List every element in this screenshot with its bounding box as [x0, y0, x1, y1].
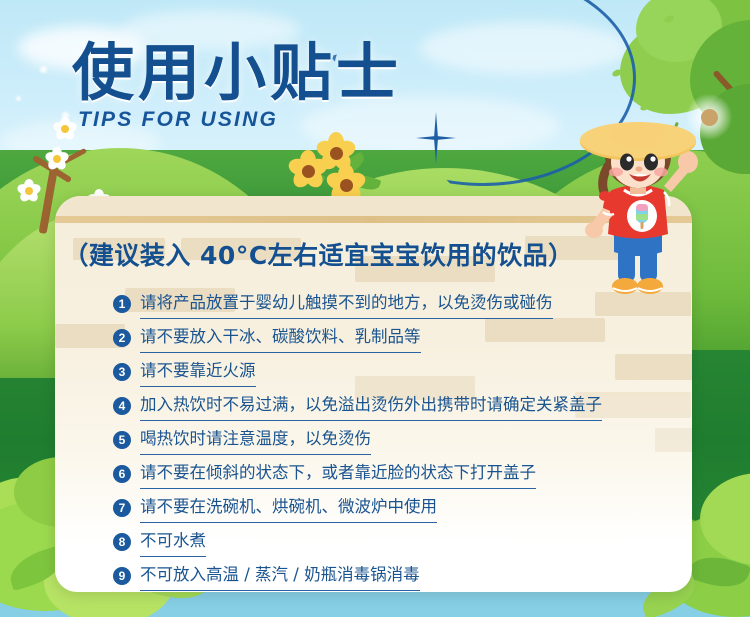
tip-row: 6请不要在倾斜的状态下，或者靠近脸的状态下打开盖子 [113, 457, 673, 491]
tip-number-badge: 5 [113, 431, 131, 449]
daisy-icon [44, 146, 70, 172]
card-heading: （建议装入 40°C左右适宜宝宝饮用的饮品） [0, 236, 637, 272]
tip-text: 加入热饮时不易过满，以免溢出烫伤外出携带时请确定关紧盖子 [140, 391, 602, 421]
tip-row: 7请不要在洗碗机、烘碗机、微波炉中使用 [113, 491, 673, 525]
tip-text: 不可水煮 [140, 527, 206, 557]
tip-number-badge: 9 [113, 567, 131, 585]
tip-text: 不可放入高温 / 蒸汽 / 奶瓶消毒锅消毒 [140, 561, 420, 591]
tips-poster: 使用小贴士 TIPS FOR USING （建议装入 40°C左右适宜宝宝饮用的… [0, 0, 750, 617]
daisy-icon [52, 116, 78, 142]
tip-number-badge: 7 [113, 499, 131, 517]
tip-row: 4加入热饮时不易过满，以免溢出烫伤外出携带时请确定关紧盖子 [113, 389, 673, 423]
daisy-icon [16, 178, 42, 204]
sparkle-dot-icon [40, 66, 47, 73]
tip-row: 9不可放入高温 / 蒸汽 / 奶瓶消毒锅消毒 [113, 559, 673, 593]
tip-row: 3请不要靠近火源 [113, 355, 673, 389]
tip-number-badge: 4 [113, 397, 131, 415]
page-title: 使用小贴士 [72, 22, 402, 112]
tip-text: 请将产品放置于婴幼儿触摸不到的地方，以免烫伤或碰伤 [140, 289, 553, 319]
tip-row: 5喝热饮时请注意温度，以免烫伤 [113, 423, 673, 457]
tip-text: 请不要靠近火源 [140, 357, 256, 387]
tip-row: 8不可水煮 [113, 525, 673, 559]
sparkle-star-icon [416, 112, 456, 164]
tip-text: 请不要在倾斜的状态下，或者靠近脸的状态下打开盖子 [140, 459, 536, 489]
tip-number-badge: 2 [113, 329, 131, 347]
tip-number-badge: 8 [113, 533, 131, 551]
tip-number-badge: 3 [113, 363, 131, 381]
tip-row: 2请不要放入干冰、碳酸饮料、乳制品等 [113, 321, 673, 355]
tip-number-badge: 6 [113, 465, 131, 483]
tip-text: 请不要在洗碗机、烘碗机、微波炉中使用 [140, 493, 437, 523]
page-subtitle: TIPS FOR USING [78, 108, 278, 132]
tips-list: 1请将产品放置于婴幼儿触摸不到的地方，以免烫伤或碰伤2请不要放入干冰、碳酸饮料、… [113, 287, 673, 593]
tip-text: 喝热饮时请注意温度，以免烫伤 [140, 425, 371, 455]
tip-text: 请不要放入干冰、碳酸饮料、乳制品等 [140, 323, 421, 353]
yellow-flower-icon [288, 150, 328, 190]
girl-illustration [572, 112, 704, 298]
tip-number-badge: 1 [113, 295, 131, 313]
sparkle-dot-icon [16, 96, 21, 101]
